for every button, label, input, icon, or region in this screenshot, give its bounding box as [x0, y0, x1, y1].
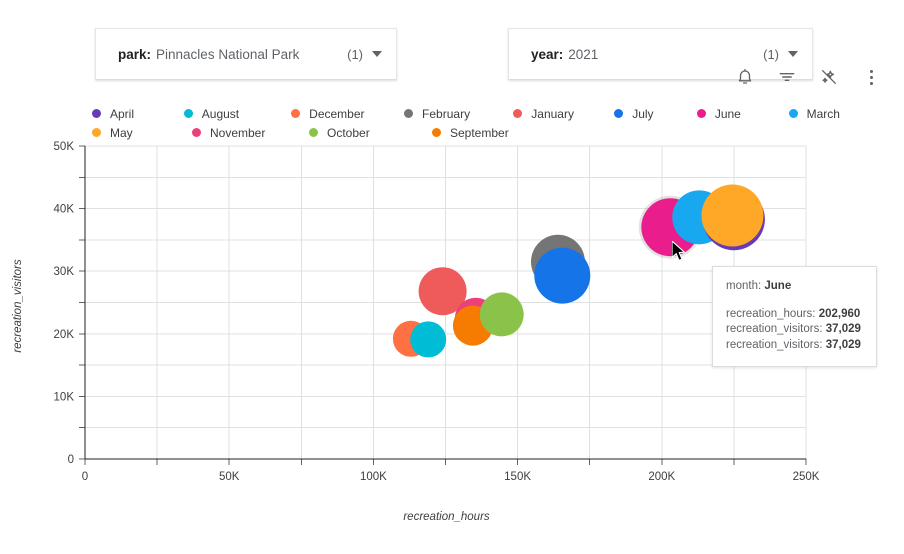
tooltip-metric-row: recreation_visitors: 37,029 [726, 322, 863, 338]
legend-swatch-icon [432, 128, 441, 137]
legend-item-june[interactable]: June [697, 107, 789, 121]
bubble-november[interactable] [455, 298, 497, 340]
filter-park-value: Pinnacles National Park [156, 47, 299, 62]
tooltip-month-row: month: June [726, 279, 863, 295]
legend-label: May [110, 126, 133, 140]
y-axis-title: recreation_visitors [12, 231, 24, 381]
legend-label: June [715, 107, 741, 121]
bubble-april[interactable] [703, 188, 765, 250]
filter-park-controls[interactable]: (1) [347, 47, 382, 62]
legend-item-march[interactable]: March [789, 107, 862, 121]
chart-legend: April August December February January J… [92, 104, 862, 142]
legend-swatch-icon [291, 109, 300, 118]
tooltip-metric-key: recreation_visitors: [726, 339, 823, 351]
legend-item-february[interactable]: February [404, 107, 513, 121]
legend-item-july[interactable]: July [614, 107, 697, 121]
bubble-may[interactable] [701, 184, 763, 246]
axis-lines [85, 146, 806, 459]
filter-park-count: (1) [347, 47, 363, 62]
tooltip-month-value: June [764, 280, 791, 292]
y-tick-label: 40K [54, 204, 75, 216]
filter-year-label: year [531, 47, 559, 62]
legend-label: July [632, 107, 653, 121]
filter-year-separator: : [559, 47, 564, 62]
legend-swatch-icon [697, 109, 706, 118]
chevron-down-icon[interactable] [788, 51, 798, 57]
tooltip-metric-value: 202,960 [819, 308, 861, 320]
tooltip-metric-row: recreation_hours: 202,960 [726, 307, 863, 323]
more-vert-icon[interactable] [860, 66, 882, 88]
y-tick-label: 10K [54, 391, 75, 403]
magic-off-icon[interactable] [818, 66, 840, 88]
x-tick-label: 0 [82, 471, 88, 483]
x-tick-label: 50K [219, 471, 240, 483]
mouse-pointer-icon [672, 241, 688, 263]
gridlines [85, 146, 806, 459]
filter-park-separator: : [147, 47, 152, 62]
legend-item-december[interactable]: December [291, 107, 404, 121]
bubble-july[interactable] [534, 248, 590, 304]
legend-swatch-icon [184, 109, 193, 118]
y-tick-label: 0 [68, 454, 74, 466]
legend-row: May November October September [92, 123, 862, 142]
filter-year-controls[interactable]: (1) [763, 47, 798, 62]
legend-swatch-icon [192, 128, 201, 137]
tooltip-metric-key: recreation_hours: [726, 308, 816, 320]
alert-bell-icon[interactable] [734, 66, 756, 88]
legend-item-august[interactable]: August [184, 107, 291, 121]
tooltip-metric-value: 37,029 [826, 339, 861, 351]
tooltip-metric-row: recreation_visitors: 37,029 [726, 338, 863, 354]
legend-label: August [202, 107, 239, 121]
x-tick-label: 100K [360, 471, 387, 483]
bubble-december[interactable] [393, 321, 429, 357]
x-tick-label: 200K [648, 471, 675, 483]
legend-label: February [422, 107, 470, 121]
axis-tick-labels: 010K20K30K40K50K050K100K150K200K250K [54, 141, 820, 483]
legend-label: November [210, 126, 265, 140]
tooltip-month-key: month: [726, 280, 761, 292]
y-tick-label: 20K [54, 329, 75, 341]
filter-year-count: (1) [763, 47, 779, 62]
legend-row: April August December February January J… [92, 104, 862, 123]
legend-item-october[interactable]: October [309, 126, 432, 140]
axis-ticks [79, 146, 806, 465]
tooltip-metric-value: 37,029 [826, 323, 861, 335]
filter-icon[interactable] [776, 66, 798, 88]
chevron-down-icon[interactable] [372, 51, 382, 57]
legend-swatch-icon [92, 128, 101, 137]
bubble-august[interactable] [410, 321, 446, 357]
legend-item-april[interactable]: April [92, 107, 184, 121]
filter-year-value: 2021 [568, 47, 598, 62]
legend-swatch-icon [513, 109, 522, 118]
legend-swatch-icon [614, 109, 623, 118]
legend-label: December [309, 107, 364, 121]
chart-toolbar [734, 66, 882, 88]
bubble-october[interactable] [480, 292, 524, 336]
bubble-march[interactable] [672, 190, 726, 244]
bubble-september[interactable] [453, 306, 493, 346]
more-vert-dots [870, 70, 873, 85]
legend-swatch-icon [309, 128, 318, 137]
legend-label: March [807, 107, 840, 121]
bubble-series [393, 184, 765, 357]
bubble-june[interactable] [641, 198, 699, 256]
legend-label: September [450, 126, 509, 140]
bubble-february[interactable] [531, 235, 585, 289]
legend-swatch-icon [789, 109, 798, 118]
legend-item-september[interactable]: September [432, 126, 551, 140]
legend-swatch-icon [92, 109, 101, 118]
legend-item-november[interactable]: November [192, 126, 309, 140]
filter-chip-park[interactable]: park : Pinnacles National Park (1) [95, 28, 397, 80]
legend-swatch-icon [404, 109, 413, 118]
x-axis-title: recreation_hours [0, 511, 893, 523]
legend-item-january[interactable]: January [513, 107, 614, 121]
legend-label: January [531, 107, 574, 121]
chart-tooltip: month: June recreation_hours: 202,960 re… [712, 266, 877, 367]
filter-park-label: park [118, 47, 147, 62]
legend-label: April [110, 107, 134, 121]
bubble-january[interactable] [419, 267, 467, 315]
legend-label: October [327, 126, 370, 140]
x-tick-label: 250K [793, 471, 820, 483]
y-tick-label: 50K [54, 141, 75, 153]
tooltip-metric-key: recreation_visitors: [726, 323, 823, 335]
legend-item-may[interactable]: May [92, 126, 192, 140]
x-tick-label: 150K [504, 471, 531, 483]
y-tick-label: 30K [54, 266, 75, 278]
